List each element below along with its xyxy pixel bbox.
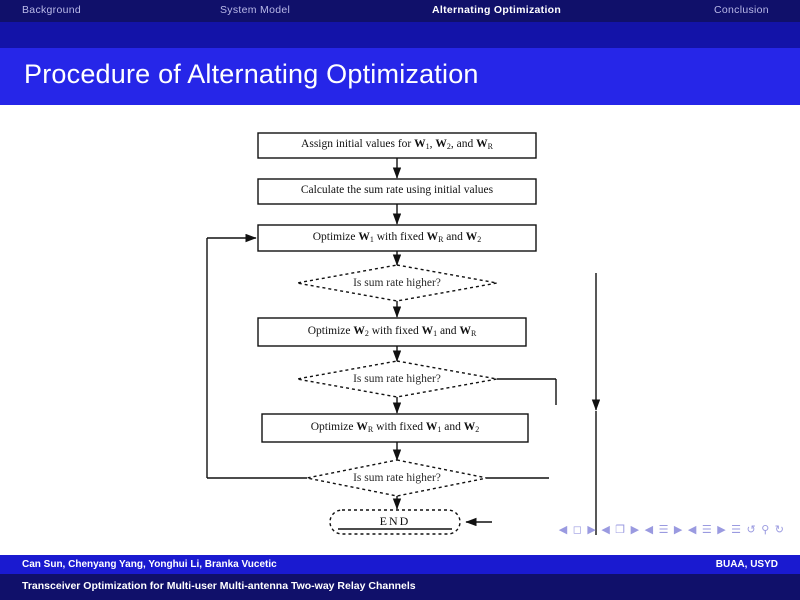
decision-label-3: Is sum rate higher? [307, 472, 487, 484]
w2-sym: W [435, 138, 447, 150]
slide: Background System Model Alternating Opti… [0, 0, 800, 600]
nav-item-background[interactable]: Background [22, 4, 81, 16]
node-label-optimize-w1: Optimize W1 with fixed WR and W2 [258, 231, 536, 244]
opt3-prefix: Optimize [311, 421, 357, 433]
node-label-optimize-w2: Optimize W2 with fixed W1 and WR [258, 325, 526, 338]
footer-title-bar: Transceiver Optimization for Multi-user … [0, 574, 800, 600]
title-banner: Procedure of Alternating Optimization [0, 48, 800, 105]
w1-sym: W [414, 138, 426, 150]
opt3-fix2: W [464, 421, 476, 433]
assign-and: , and [451, 138, 476, 150]
opt2-fix2: W [459, 325, 471, 337]
nav-item-system-model[interactable]: System Model [220, 4, 290, 16]
section-navigation-bar: Background System Model Alternating Opti… [0, 0, 800, 22]
decision-label-1: Is sum rate higher? [297, 277, 497, 289]
opt2-prefix: Optimize [308, 325, 354, 337]
opt1-target: W [358, 231, 370, 243]
node-label-optimize-wr: Optimize WR with fixed W1 and W2 [262, 421, 528, 434]
wr-sym: W [476, 138, 488, 150]
opt1-prefix: Optimize [313, 231, 359, 243]
nav-symbol-glyphs[interactable]: ◀ ◻ ▶ ◀ ❐ ▶ ◀ ☰ ▶ ◀ ☰ ▶ ☰ ↺ ⚲ ↻ [559, 523, 785, 536]
nav-strip [0, 22, 800, 48]
opt1-fix1: W [427, 231, 439, 243]
opt3-target: W [356, 421, 368, 433]
opt3-fix2-sub: 2 [475, 425, 479, 434]
opt1-fix2-sub: 2 [477, 235, 481, 244]
nav-item-alternating-optimization[interactable]: Alternating Optimization [432, 4, 561, 16]
slide-body: Assign initial values for W1, W2, and WR… [0, 105, 800, 555]
end-label: END [330, 514, 460, 529]
opt1-and: and [443, 231, 465, 243]
opt2-fix2-sub: R [471, 329, 476, 338]
opt1-fix2: W [466, 231, 478, 243]
node-label-assign: Assign initial values for W1, W2, and WR [258, 138, 536, 151]
opt3-mid: with fixed [373, 421, 426, 433]
footer-paper-title: Transceiver Optimization for Multi-user … [22, 580, 416, 592]
opt1-mid: with fixed [374, 231, 427, 243]
footer-author-bar: Can Sun, Chenyang Yang, Yonghui Li, Bran… [0, 555, 800, 574]
opt3-fix1: W [426, 421, 438, 433]
opt2-and: and [437, 325, 459, 337]
decision-label-2: Is sum rate higher? [297, 373, 497, 385]
opt2-mid: with fixed [369, 325, 422, 337]
assign-prefix: Assign initial values for [301, 138, 414, 150]
nav-item-conclusion[interactable]: Conclusion [714, 4, 769, 16]
opt3-and: and [441, 421, 463, 433]
footer-affiliation: BUAA, USYD [716, 559, 778, 570]
opt2-fix1: W [422, 325, 434, 337]
opt2-target: W [353, 325, 365, 337]
footer-authors: Can Sun, Chenyang Yang, Yonghui Li, Bran… [22, 559, 277, 570]
node-label-calculate: Calculate the sum rate using initial val… [258, 184, 536, 196]
page-title: Procedure of Alternating Optimization [24, 59, 479, 90]
beamer-navigation-symbols[interactable]: ◀ ◻ ▶ ◀ ❐ ▶ ◀ ☰ ▶ ◀ ☰ ▶ ☰ ↺ ⚲ ↻ [558, 523, 786, 536]
wr-sub: R [488, 142, 493, 151]
